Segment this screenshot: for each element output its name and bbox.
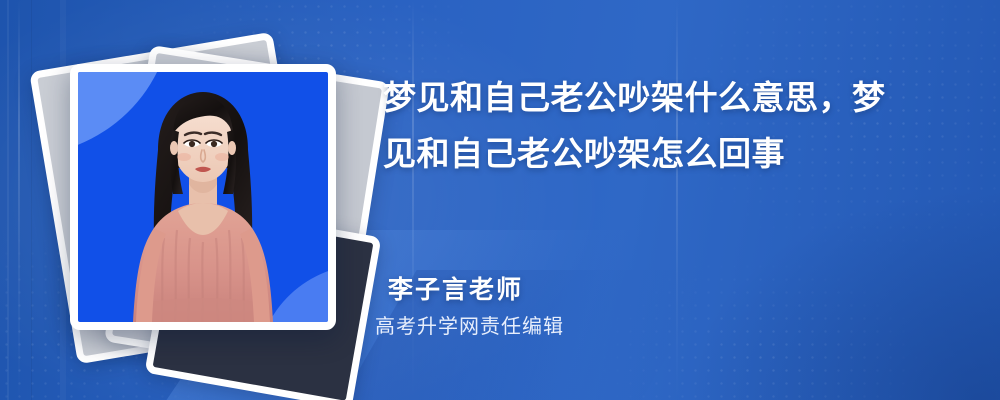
author-role: 高考升学网责任编辑	[375, 315, 564, 339]
author-photo-card	[70, 64, 336, 330]
author-name: 李子言老师	[388, 275, 564, 305]
article-author-banner: 梦见和自己老公吵架什么意思，梦 见和自己老公吵架怎么回事 李子言老师 高考升学网…	[0, 0, 1000, 400]
background-vertical-line	[18, 0, 20, 400]
article-headline: 梦见和自己老公吵架什么意思，梦 见和自己老公吵架怎么回事	[383, 70, 963, 182]
headline-block: 梦见和自己老公吵架什么意思，梦 见和自己老公吵架怎么回事	[383, 70, 963, 182]
author-byline: 李子言老师 高考升学网责任编辑	[388, 275, 564, 339]
author-portrait	[78, 72, 328, 322]
photo-card-stack	[40, 22, 360, 378]
